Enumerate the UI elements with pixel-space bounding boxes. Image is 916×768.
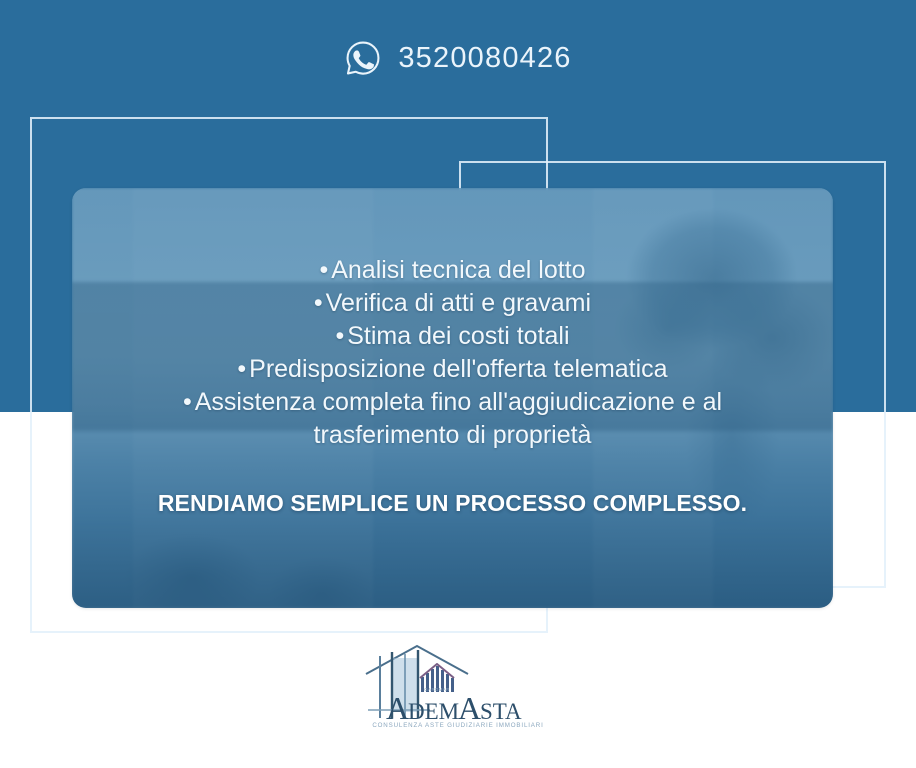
wordmark-A2: A [458, 690, 481, 726]
wordmark-DEM: DEM [408, 699, 459, 724]
list-item: •Assistenza completa fino all'aggiudicaz… [153, 386, 753, 452]
bullet-dot-icon: • [183, 388, 192, 416]
phone-number[interactable]: 3520080426 [398, 44, 571, 73]
brand-logo: GARDMAR A DEM A STA CONSULENZA ASTE GIUD… [0, 644, 916, 754]
logo-wordmark: A DEM A STA [386, 690, 558, 726]
bullet-text: Predisposizione dell'offerta telematica [249, 355, 667, 383]
logo-subtitle: CONSULENZA ASTE GIUDIZIARIE IMMOBILIARI [358, 723, 558, 729]
list-item: •Analisi tecnica del lotto [153, 254, 753, 287]
list-item: •Predisposizione dell'offerta telematica [153, 353, 753, 386]
bullet-dot-icon: • [314, 289, 323, 317]
list-item: •Verifica di atti e gravami [153, 287, 753, 320]
bullet-dot-icon: • [237, 355, 246, 383]
contact-header: 3520080426 [0, 32, 916, 84]
wordmark-A1: A [386, 690, 409, 726]
bullet-text: Analisi tecnica del lotto [331, 256, 585, 284]
poster-canvas: 3520080426 •Analisi tecnica del lotto •V… [0, 0, 916, 768]
whatsapp-icon[interactable] [344, 39, 382, 77]
tagline: RENDIAMO SEMPLICE UN PROCESSO COMPLESSO. [158, 490, 747, 517]
card-copy: •Analisi tecnica del lotto •Verifica di … [72, 188, 833, 608]
list-item: •Stima dei costi totali [153, 320, 753, 353]
bullet-text: Stima dei costi totali [347, 322, 569, 350]
bullet-dot-icon: • [319, 256, 328, 284]
wordmark-STA: STA [480, 699, 522, 724]
bullet-text: Verifica di atti e gravami [326, 289, 591, 317]
bullet-dot-icon: • [335, 322, 344, 350]
service-bullet-list: •Analisi tecnica del lotto •Verifica di … [153, 254, 753, 452]
bullet-text: Assistenza completa fino all'aggiudicazi… [195, 388, 722, 449]
feature-card: •Analisi tecnica del lotto •Verifica di … [72, 188, 833, 608]
